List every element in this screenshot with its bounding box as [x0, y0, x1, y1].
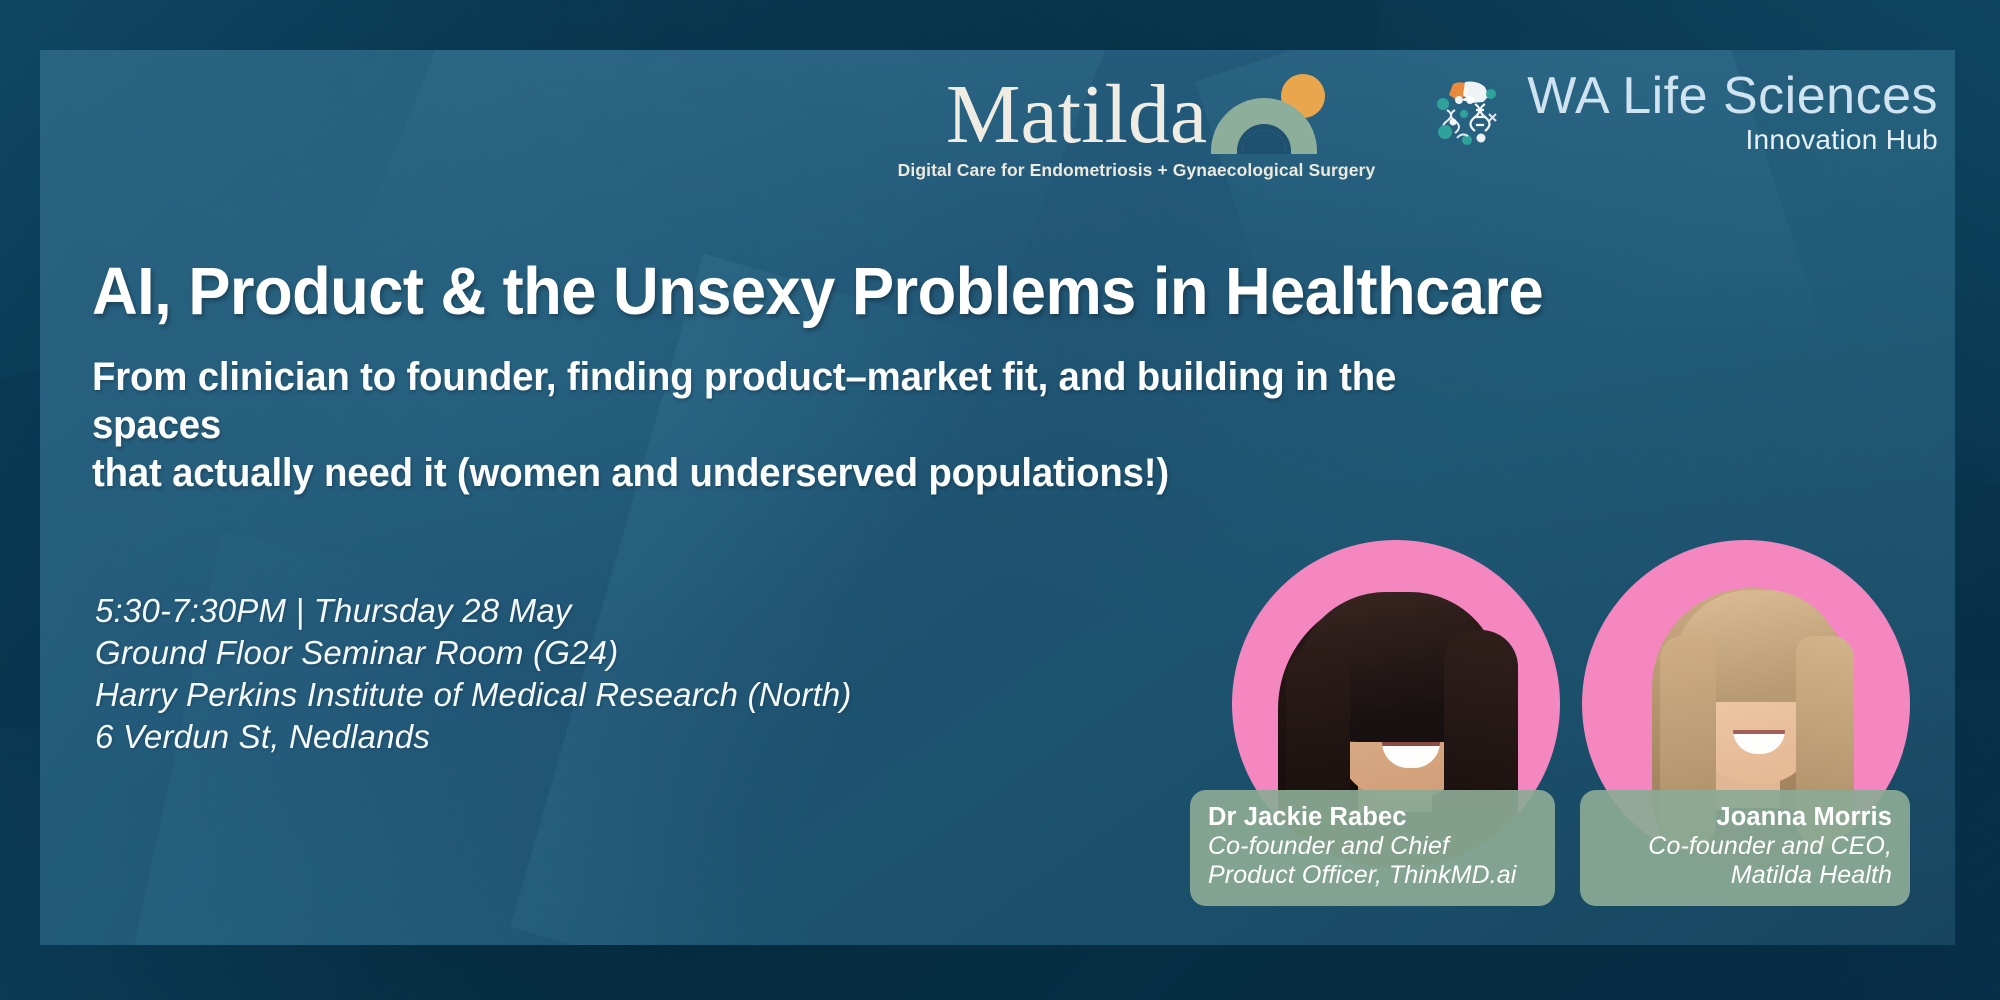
matilda-logo-top: Matilda — [946, 70, 1327, 154]
event-room: Ground Floor Seminar Room (G24) — [95, 632, 852, 674]
wa-logo-line2: Innovation Hub — [1745, 123, 1938, 157]
speaker-role-line-1: Co-founder and CEO, — [1598, 832, 1892, 861]
matilda-logo: Matilda Digital Care for Endometriosis +… — [898, 70, 1376, 181]
speaker-caption-joanna-morris: Joanna Morris Co-founder and CEO, Matild… — [1580, 790, 1910, 906]
science-icon-cluster-circle — [1423, 70, 1509, 156]
wa-life-sciences-logo: WA Life Sciences Innovation Hub — [1423, 70, 1938, 157]
event-details: 5:30-7:30PM | Thursday 28 May Ground Flo… — [95, 590, 852, 758]
matilda-wordmark: Matilda — [946, 76, 1207, 154]
event-address: 6 Verdun St, Nedlands — [95, 716, 852, 758]
page-title: AI, Product & the Unsexy Problems in Hea… — [92, 258, 1802, 326]
arch-and-sun-icon — [1211, 70, 1327, 154]
matilda-tagline: Digital Care for Endometriosis + Gynaeco… — [898, 160, 1376, 181]
speaker-role-line-1: Co-founder and Chief — [1208, 832, 1537, 861]
wa-logo-text: WA Life Sciences Innovation Hub — [1527, 70, 1938, 157]
speaker-name: Dr Jackie Rabec — [1208, 802, 1537, 832]
event-time: 5:30-7:30PM | Thursday 28 May — [95, 590, 852, 632]
speaker-name: Joanna Morris — [1598, 802, 1892, 832]
event-venue: Harry Perkins Institute of Medical Resea… — [95, 674, 852, 716]
speaker-role-line-2: Product Officer, ThinkMD.ai — [1208, 861, 1537, 890]
subtitle-line-2: that actually need it (women and underse… — [92, 450, 1532, 498]
subtitle-line-1: From clinician to founder, finding produ… — [92, 354, 1532, 449]
speaker-role-line-2: Matilda Health — [1598, 861, 1892, 890]
event-poster: Matilda Digital Care for Endometriosis +… — [0, 0, 2000, 1000]
speaker-caption-jackie-rabec: Dr Jackie Rabec Co-founder and Chief Pro… — [1190, 790, 1555, 906]
page-subtitle: From clinician to founder, finding produ… — [92, 354, 1532, 497]
headline-block: AI, Product & the Unsexy Problems in Hea… — [92, 258, 1902, 497]
wa-logo-line1: WA Life Sciences — [1527, 70, 1938, 123]
logo-row: Matilda Digital Care for Endometriosis +… — [898, 70, 1938, 181]
